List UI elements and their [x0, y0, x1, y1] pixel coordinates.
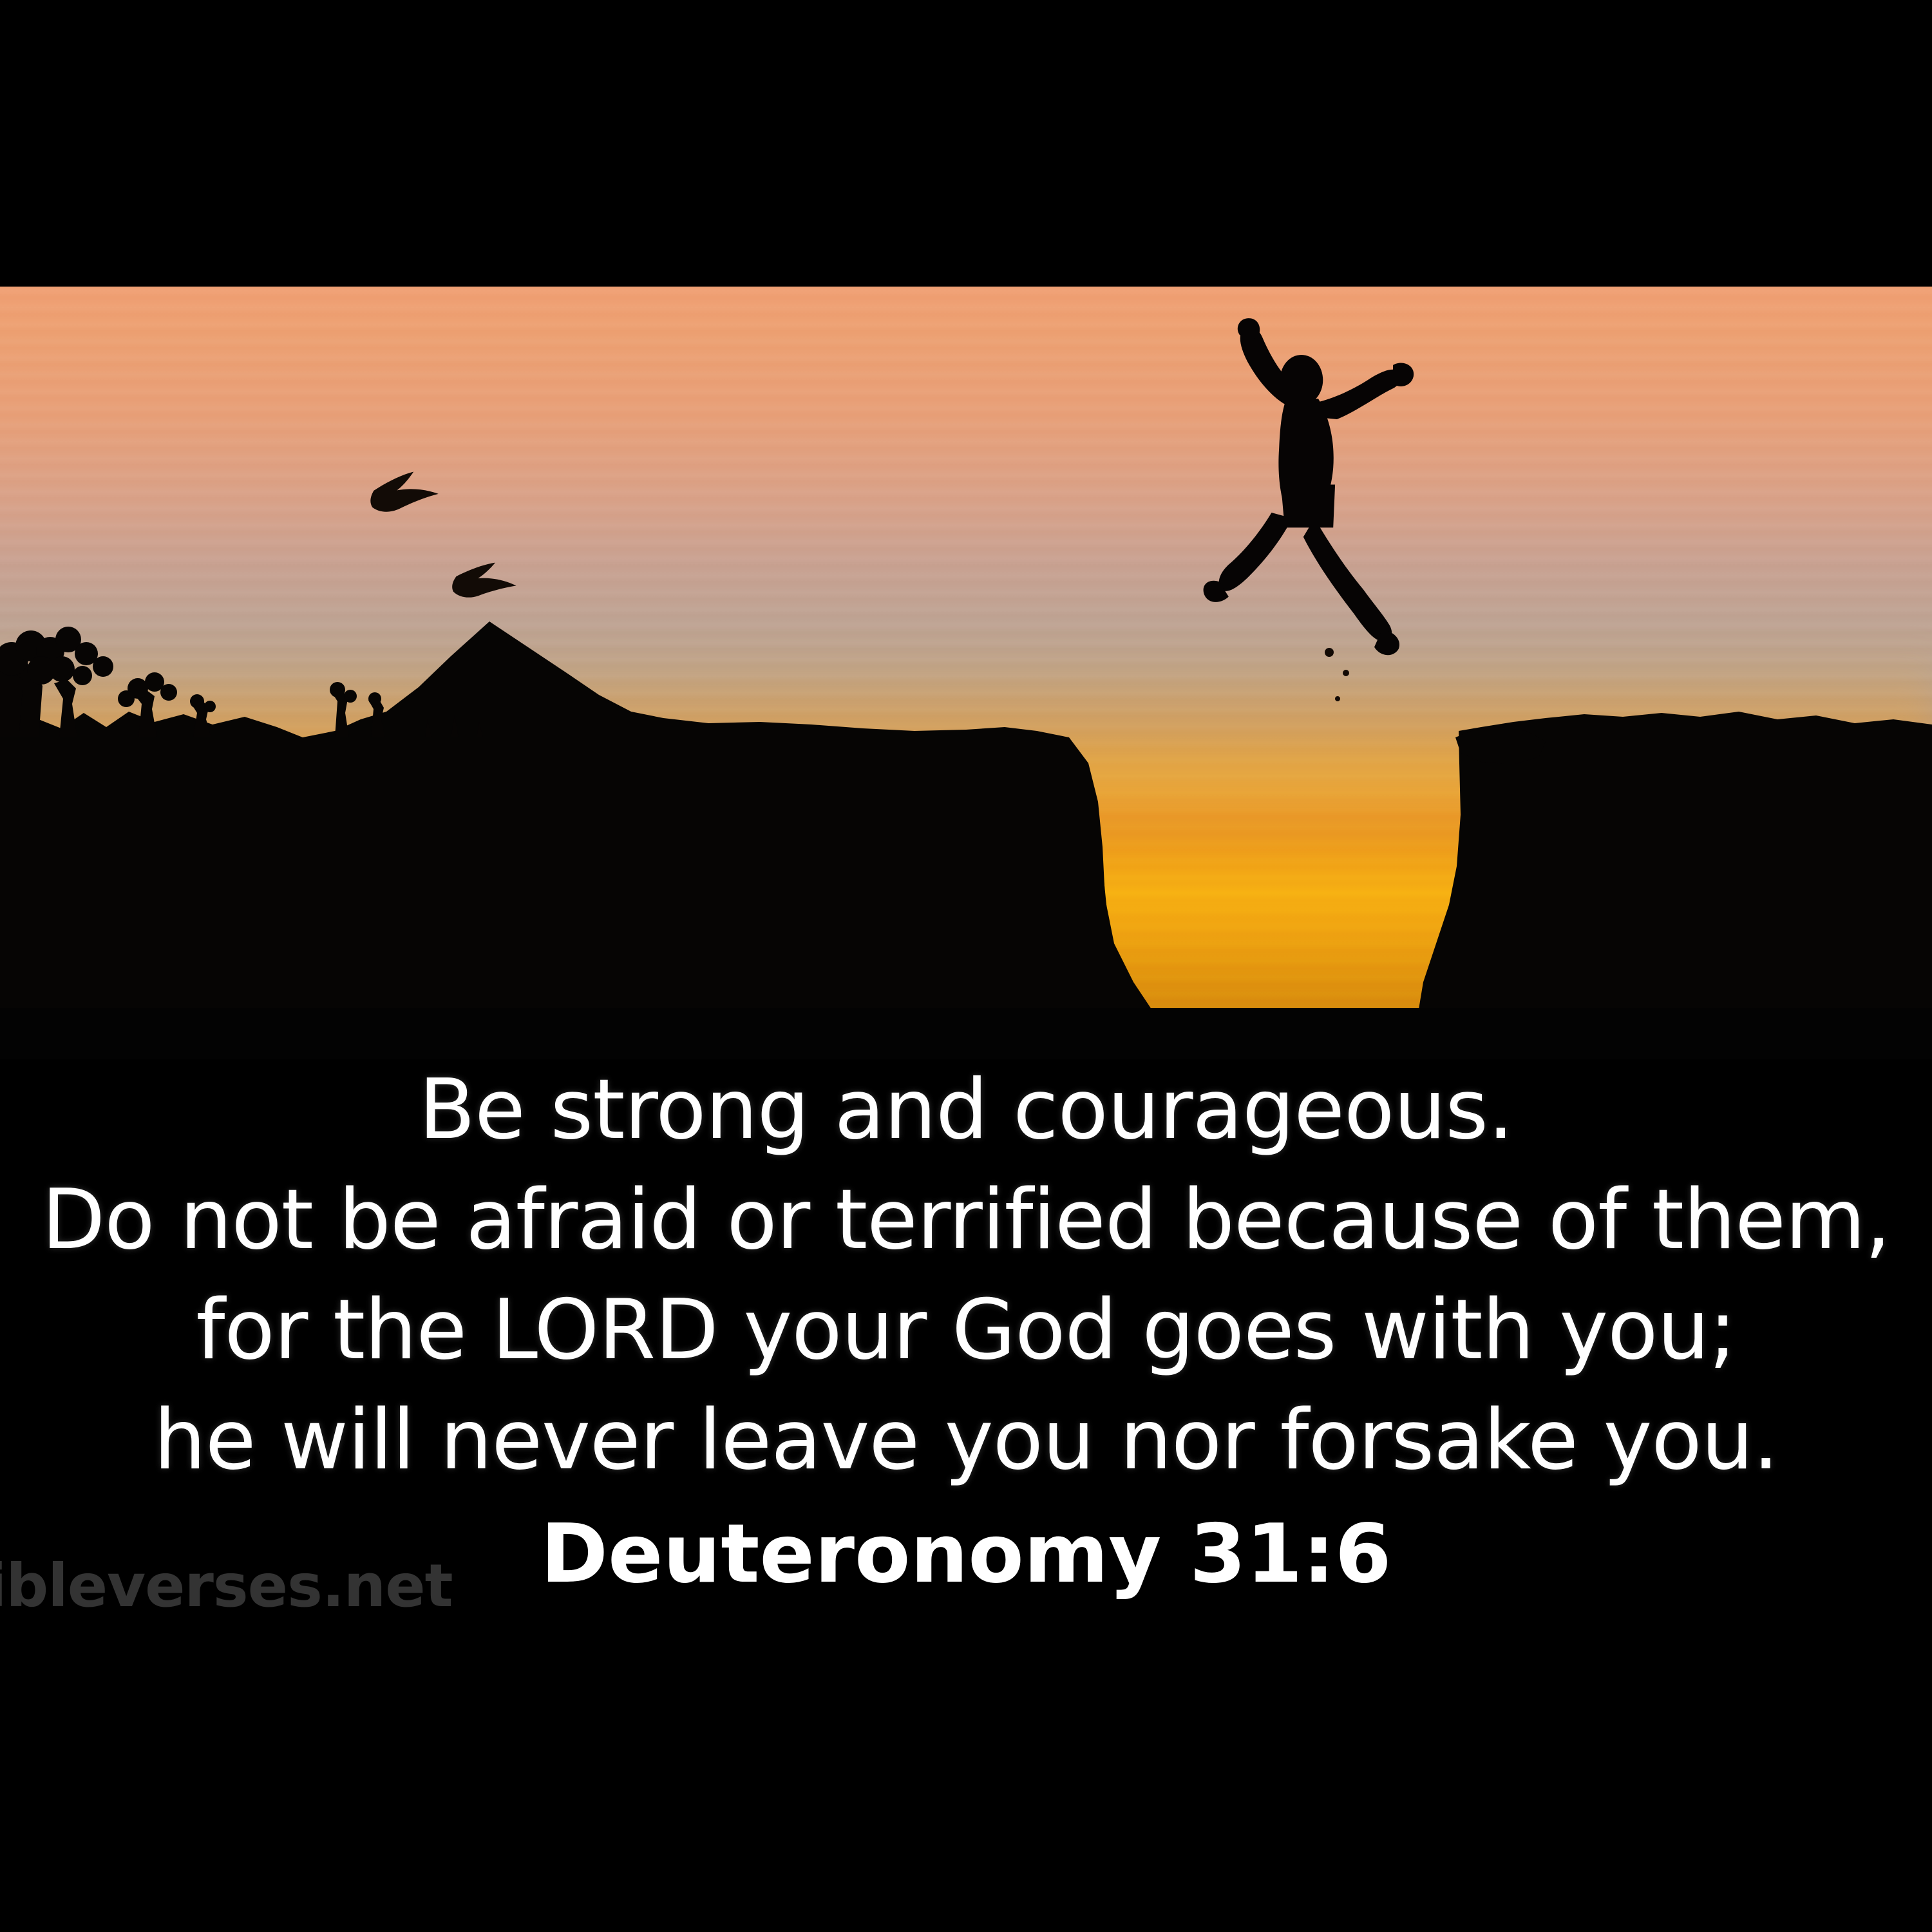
sunset-photo — [0, 287, 1932, 1059]
site-watermark: bibleverses.net — [0, 1554, 453, 1618]
verse-line-3: for the LORD your God goes with you; — [0, 1275, 1932, 1385]
verse-text: Be strong and courageous. Do not be afra… — [0, 1055, 1932, 1495]
verse-image-canvas: Be strong and courageous. Do not be afra… — [0, 0, 1932, 1932]
valley-shadow — [0, 1008, 1932, 1059]
falling-pebbles — [1325, 648, 1349, 701]
jumping-man-silhouette — [1204, 318, 1414, 655]
bird-silhouette-2 — [450, 552, 521, 611]
verse-line-4: he will never leave you nor forsake you. — [0, 1385, 1932, 1495]
bird-silhouette-1 — [368, 464, 442, 522]
right-cliff-silhouette — [1417, 712, 1932, 1059]
verse-line-1: Be strong and courageous. — [0, 1055, 1932, 1165]
left-cliff-silhouette — [0, 621, 1169, 1059]
top-black-bar — [0, 0, 1932, 287]
silhouette-layer — [0, 287, 1932, 1059]
verse-line-2: Do not be afraid or terrified because of… — [0, 1165, 1932, 1275]
